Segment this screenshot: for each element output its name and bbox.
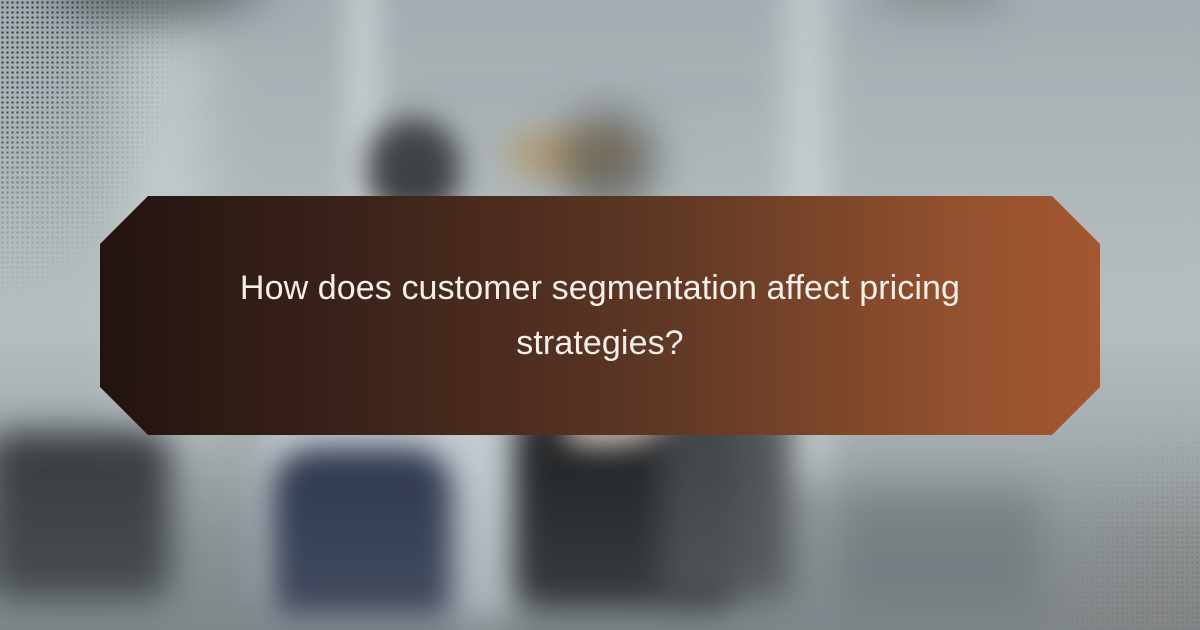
headline-banner: How does customer segmentation affect pr…: [100, 196, 1100, 435]
social-card-canvas: How does customer segmentation affect pr…: [0, 0, 1200, 630]
page-title: How does customer segmentation affect pr…: [220, 261, 980, 371]
